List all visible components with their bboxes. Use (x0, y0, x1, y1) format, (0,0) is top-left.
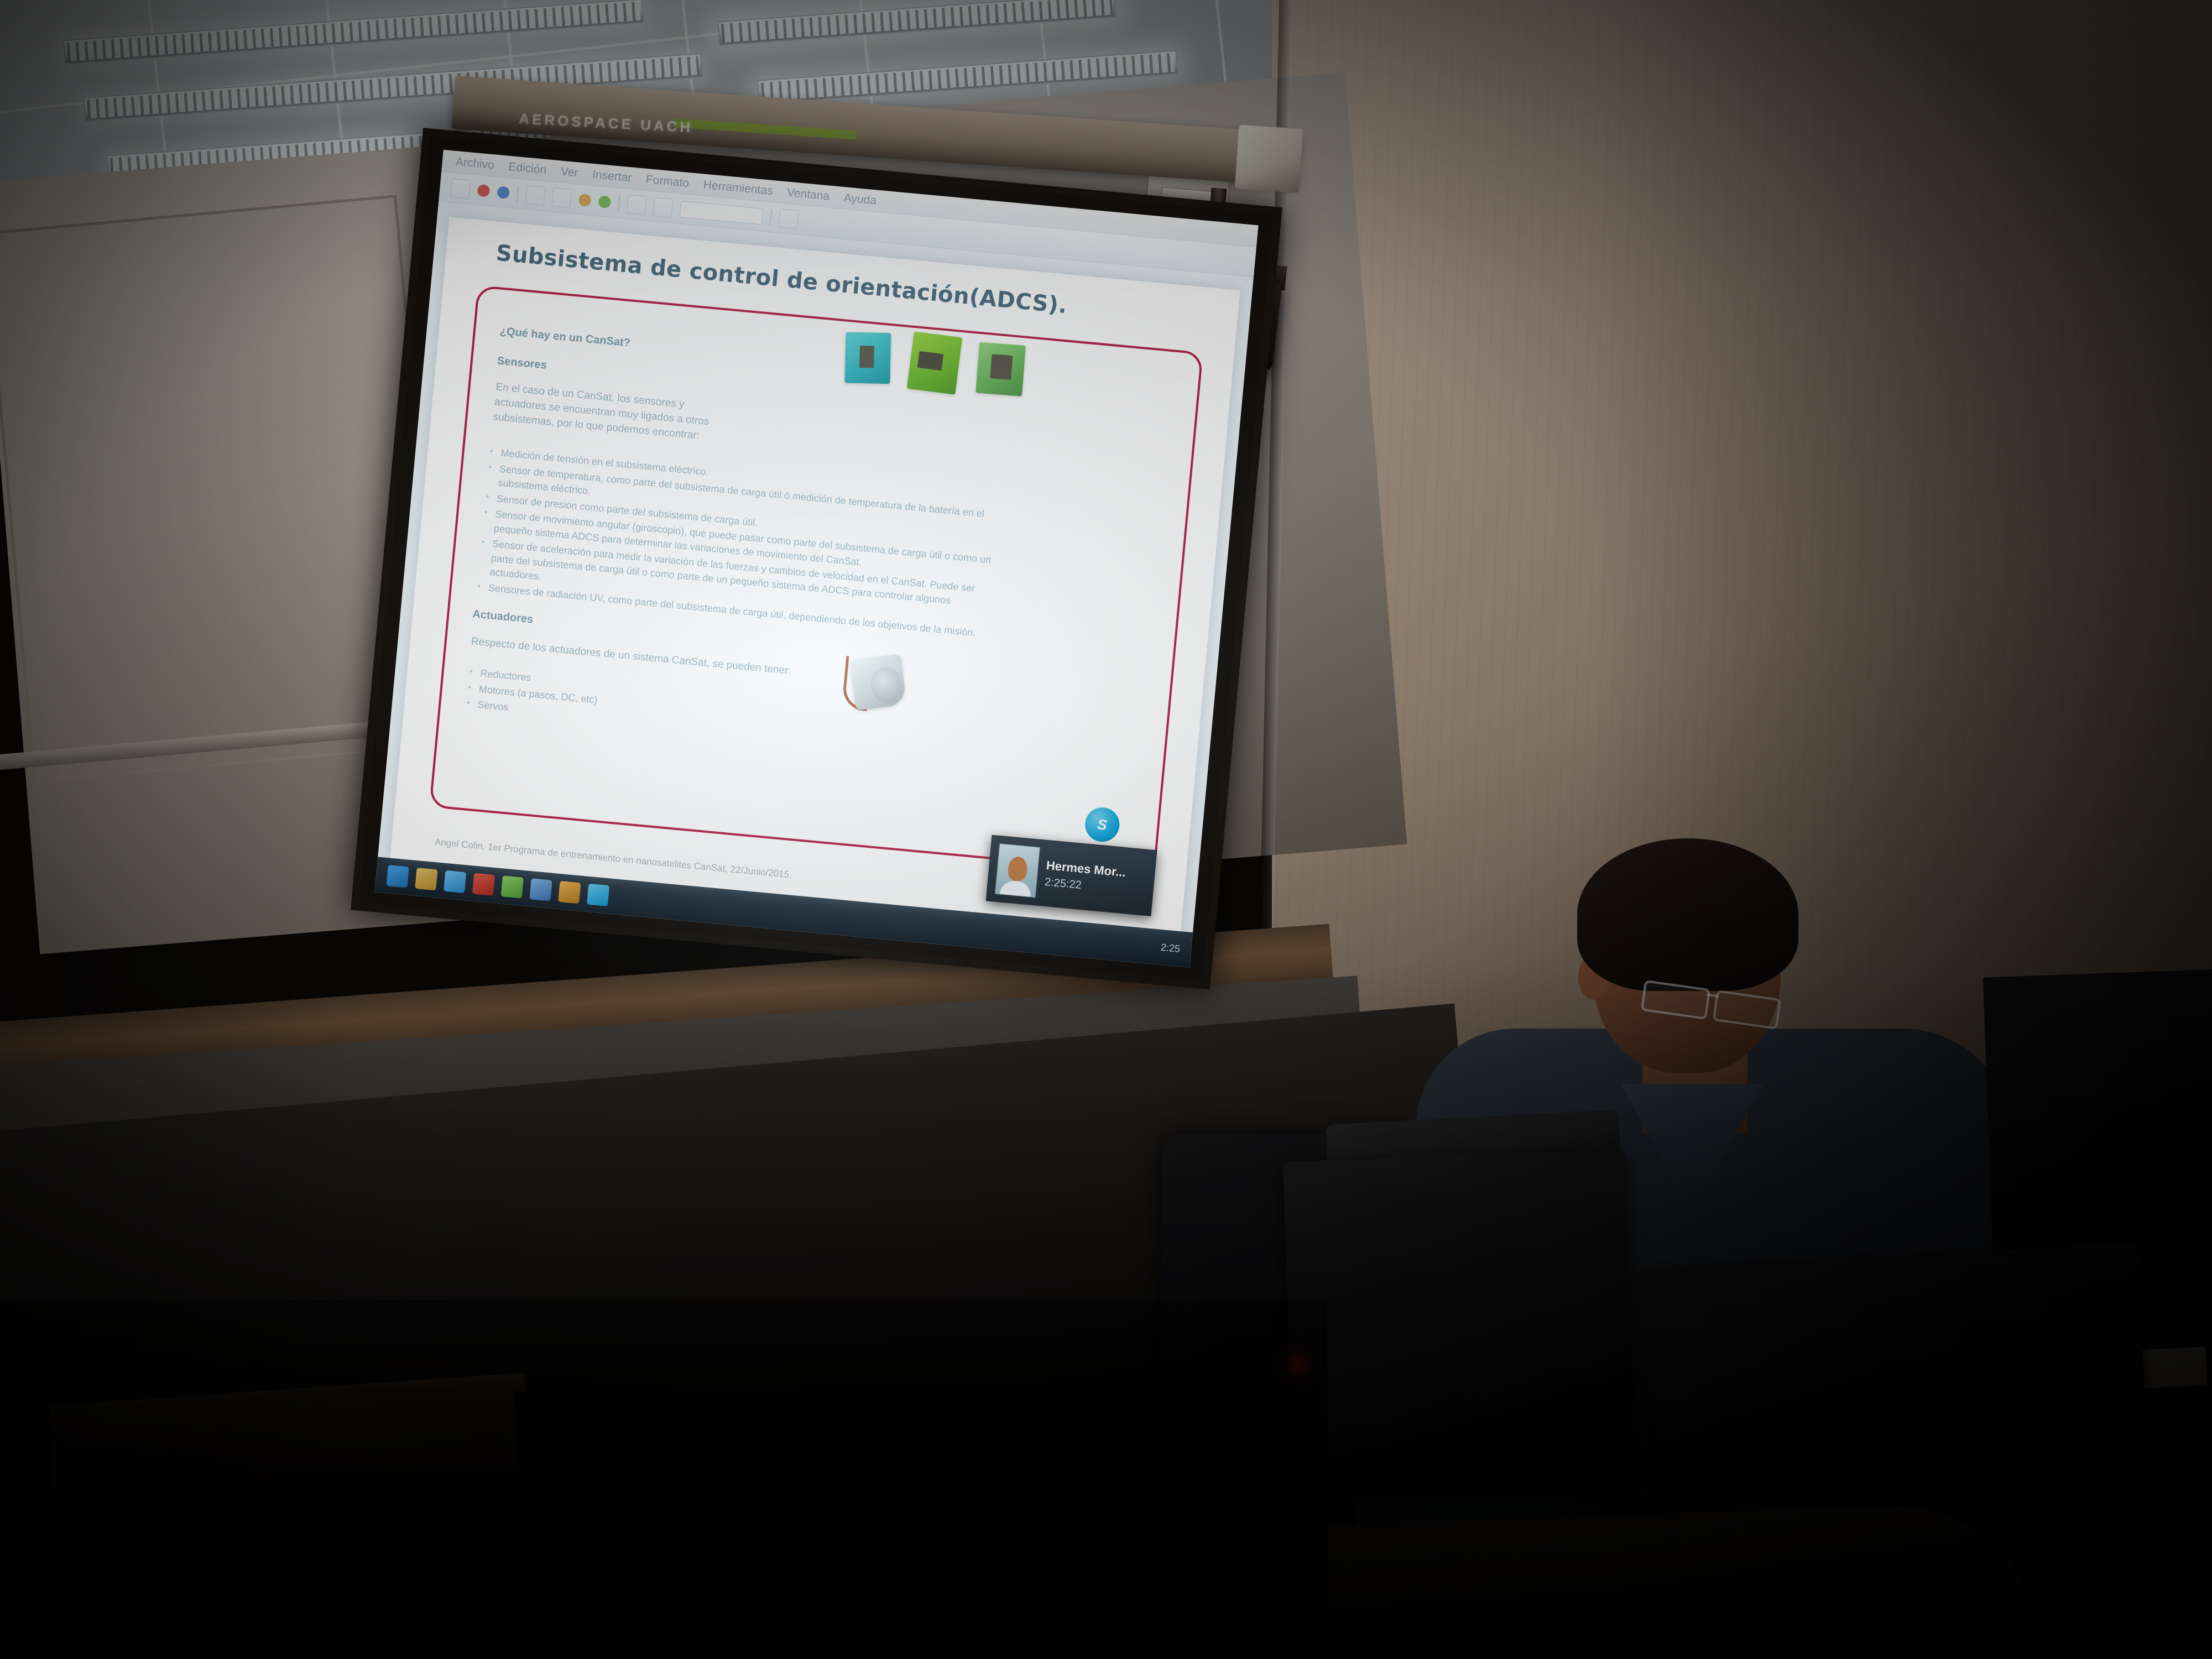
stepper-motor-image (838, 648, 914, 718)
menu-item-ventana[interactable]: Ventana (786, 186, 830, 203)
taskbar-clock: 2:25 (1160, 941, 1181, 954)
motor-hub (869, 665, 904, 705)
toolbar-redo-button[interactable] (551, 187, 572, 208)
toolbar-run-icon[interactable] (598, 195, 611, 208)
skype-icon[interactable] (587, 884, 609, 906)
toolbar-separator (618, 195, 620, 211)
foreground-shadow (0, 1300, 1327, 1659)
menu-item-insertar[interactable]: Insertar (592, 168, 632, 184)
motor-body (850, 654, 906, 711)
projected-desktop: Archivo Edición Ver Insertar Formato Her… (374, 150, 1258, 968)
start-icon[interactable] (386, 865, 409, 888)
toolbar-help-button[interactable] (779, 208, 799, 229)
sensor-board-image-green (907, 331, 963, 394)
toolbar-new-button[interactable] (450, 178, 471, 199)
toolbar-shape-button[interactable] (627, 195, 647, 215)
classroom-photo: AEROSPACE UACH Archivo Edición Ver Inser… (0, 0, 2212, 1659)
toolbar-save-icon[interactable] (497, 186, 510, 199)
toast-timestamp: 2:25:22 (1044, 875, 1125, 895)
slide-canvas: Subsistema de control de orientación(ADC… (378, 201, 1254, 932)
explorer-icon[interactable] (415, 868, 437, 890)
menu-item-herramientas[interactable]: Herramientas (703, 178, 774, 198)
person-hair (1577, 838, 1798, 991)
folder-icon[interactable] (558, 881, 581, 904)
toolbar-undo-button[interactable] (525, 185, 546, 206)
toolbar-separator (770, 209, 773, 226)
mail-icon[interactable] (529, 878, 552, 901)
projection-screen-assembly: AEROSPACE UACH Archivo Edición Ver Inser… (343, 128, 1282, 1066)
menu-item-ver[interactable]: Ver (560, 165, 579, 180)
presentation-app-window: Archivo Edición Ver Insertar Formato Her… (374, 150, 1258, 968)
browser-icon[interactable] (444, 870, 466, 893)
sensor-board-image-green-2 (975, 342, 1026, 397)
menu-item-archivo[interactable]: Archivo (455, 155, 495, 172)
menu-item-edicion[interactable]: Edición (508, 160, 547, 176)
toolbar-zoom-field[interactable] (679, 200, 763, 225)
toolbar-text-button[interactable] (653, 197, 674, 217)
media-icon[interactable] (501, 875, 524, 898)
av-equipment-box (1283, 1150, 1637, 1493)
roller-end-cap (1235, 125, 1303, 194)
toolbar-highlight-icon[interactable] (578, 193, 592, 206)
menu-item-formato[interactable]: Formato (645, 173, 690, 190)
pdf-icon[interactable] (472, 873, 495, 896)
avatar (995, 843, 1040, 898)
toolbar-record-icon[interactable] (477, 184, 490, 197)
sensor-board-image-cyan (844, 332, 891, 384)
menu-item-ayuda[interactable]: Ayuda (843, 191, 877, 207)
projection-screen: Archivo Edición Ver Insertar Formato Her… (351, 128, 1282, 989)
toolbar-separator (517, 185, 519, 202)
